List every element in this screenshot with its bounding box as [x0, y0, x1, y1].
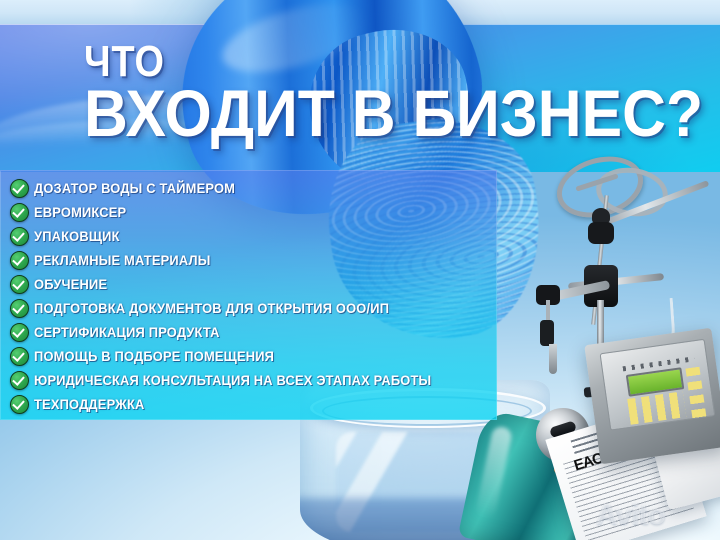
- check-circle-icon: [10, 371, 29, 390]
- nozzle-tip: [549, 344, 557, 374]
- list-item-label: ПОДГОТОВКА ДОКУМЕНТОВ ДЛЯ ОТКРЫТИЯ ООО/И…: [34, 300, 389, 316]
- nozzle-clamp-lower: [540, 320, 554, 346]
- list-item: ОБУЧЕНИЕ: [10, 272, 497, 296]
- check-circle-icon: [10, 203, 29, 222]
- list-item: ПОМОЩЬ В ПОДБОРЕ ПОМЕЩЕНИЯ: [10, 344, 497, 368]
- machine-side-buttons: [685, 367, 706, 420]
- list-item-label: ДОЗАТОР ВОДЫ С ТАЙМЕРОМ: [34, 180, 235, 196]
- list-item-label: ПОМОЩЬ В ПОДБОРЕ ПОМЕЩЕНИЯ: [34, 348, 274, 364]
- teal-bottle-highlight: [475, 425, 514, 519]
- machine-led-row: [623, 356, 695, 371]
- check-circle-icon: [10, 299, 29, 318]
- check-circle-icon: [10, 275, 29, 294]
- list-item-label: УПАКОВЩИК: [34, 228, 120, 244]
- machine-faceplate: [600, 339, 716, 431]
- list-item: УПАКОВЩИК: [10, 224, 497, 248]
- check-circle-icon: [10, 395, 29, 414]
- mixer-head: [588, 222, 614, 244]
- list-item: ЕВРОМИКСЕР: [10, 200, 497, 224]
- list-item-label: ЮРИДИЧЕСКАЯ КОНСУЛЬТАЦИЯ НА ВСЕХ ЭТАПАХ …: [34, 372, 431, 388]
- list-item: ДОЗАТОР ВОДЫ С ТАЙМЕРОМ: [10, 176, 497, 200]
- list-item-label: ОБУЧЕНИЕ: [34, 276, 107, 292]
- list-item-label: ЕВРОМИКСЕР: [34, 204, 126, 220]
- check-circle-icon: [10, 323, 29, 342]
- list-item: СЕРТИФИКАЦИЯ ПРОДУКТА: [10, 320, 497, 344]
- list-item: ПОДГОТОВКА ДОКУМЕНТОВ ДЛЯ ОТКРЫТИЯ ООО/И…: [10, 296, 497, 320]
- features-list: ДОЗАТОР ВОДЫ С ТАЙМЕРОМ ЕВРОМИКСЕР УПАКО…: [0, 176, 497, 416]
- check-circle-icon: [10, 347, 29, 366]
- check-circle-icon: [10, 251, 29, 270]
- machine-keypad: [627, 391, 686, 425]
- list-item-label: ТЕХПОДДЕРЖКА: [34, 396, 145, 412]
- list-item-label: СЕРТИФИКАЦИЯ ПРОДУКТА: [34, 324, 220, 340]
- list-item: ТЕХПОДДЕРЖКА: [10, 392, 497, 416]
- list-item: ЮРИДИЧЕСКАЯ КОНСУЛЬТАЦИЯ НА ВСЕХ ЭТАПАХ …: [10, 368, 497, 392]
- list-item: РЕКЛАМНЫЕ МАТЕРИАЛЫ: [10, 248, 497, 272]
- filling-machine: [584, 328, 720, 465]
- check-circle-icon: [10, 179, 29, 198]
- check-circle-icon: [10, 227, 29, 246]
- list-item-label: РЕКЛАМНЫЕ МАТЕРИАЛЫ: [34, 252, 210, 268]
- promo-poster: EAC ЧТО ВХОДИТ В БИЗНЕС? ДОЗАТОР ВОДЫ С …: [0, 0, 720, 540]
